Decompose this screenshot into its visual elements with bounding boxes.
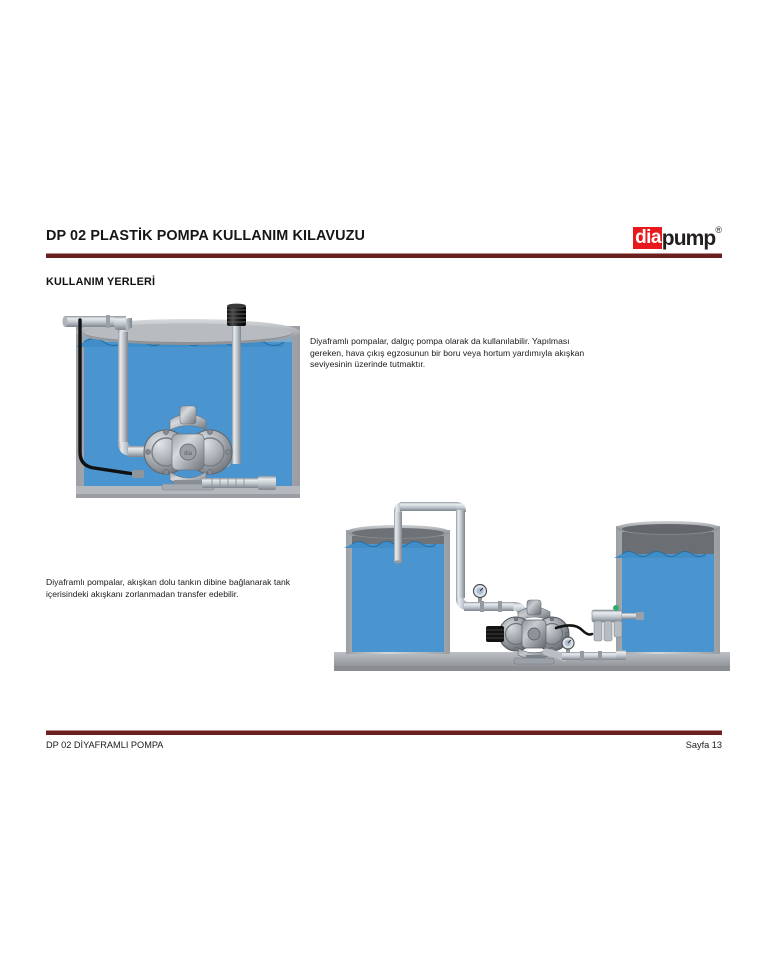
page-header: DP 02 PLASTİK POMPA KULLANIM KILAVUZU di… — [46, 228, 722, 262]
pressure-gauge-suction — [474, 585, 487, 603]
paragraph-submersible-usage: Diyaframlı pompalar, dalgıç pompa olarak… — [310, 336, 595, 371]
suction-strainer — [202, 476, 276, 490]
muffler-icon — [227, 304, 246, 326]
footer-page-number: Sayfa 13 — [686, 740, 722, 750]
registered-trademark-icon: ® — [715, 226, 722, 235]
logo-word-pump: pump — [662, 228, 716, 249]
footer-divider — [46, 730, 722, 735]
hose-fitting — [132, 470, 144, 478]
diapump-logo: dia pump ® — [633, 225, 722, 249]
section-heading: KULLANIM YERLERİ — [46, 276, 155, 288]
figure-submersible-pump-in-tank: dia — [62, 302, 314, 510]
paragraph-transfer-usage: Diyaframlı pompalar, akışkan dolu tankın… — [46, 577, 308, 600]
figure-tank-to-tank-transfer — [330, 500, 734, 675]
document-page: DP 02 PLASTİK POMPA KULLANIM KILAVUZU di… — [0, 0, 768, 960]
header-divider — [46, 253, 722, 258]
logo-mark-dia: dia — [633, 227, 662, 249]
footer-document-name: DP 02 DİYAFRAMLI POMPA — [46, 740, 163, 750]
svg-text:dia: dia — [184, 451, 193, 457]
page-title: DP 02 PLASTİK POMPA KULLANIM KILAVUZU — [46, 228, 365, 244]
muffler-icon — [486, 626, 504, 642]
right-tank — [614, 521, 720, 654]
pressure-gauge-discharge — [562, 637, 574, 653]
